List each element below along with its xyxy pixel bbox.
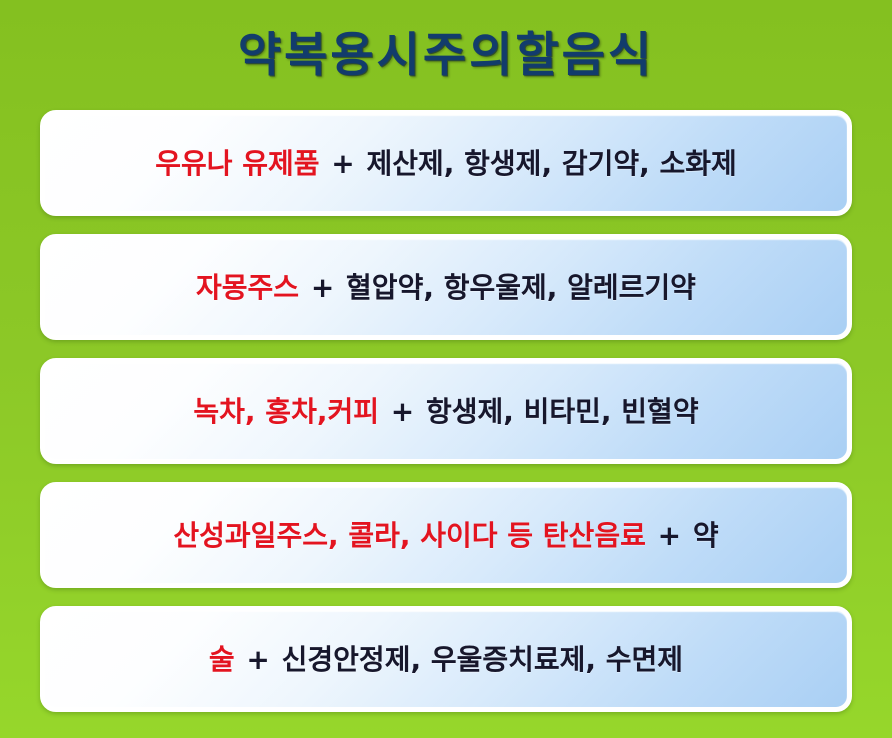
food-card: 자몽주스 + 혈압약, 항우울제, 알레르기약 — [40, 234, 852, 340]
food-card-text: 산성과일주스, 콜라, 사이다 등 탄산음료 + 약 — [159, 518, 732, 553]
food-card-text: 자몽주스 + 혈압약, 항우울제, 알레르기약 — [182, 270, 710, 305]
title-bar: 약복용시주의할음식 — [0, 0, 892, 110]
plus-separator: + — [235, 643, 282, 676]
drug-label: 항생제, 비타민, 빈혈약 — [426, 395, 699, 428]
drug-label: 신경안정제, 우울증치료제, 수면제 — [282, 643, 683, 676]
food-label: 녹차, 홍차,커피 — [193, 395, 379, 428]
drug-label: 약 — [693, 519, 719, 552]
food-card: 술 + 신경안정제, 우울증치료제, 수면제 — [40, 606, 852, 712]
plus-separator: + — [299, 271, 346, 304]
drug-label: 제산제, 항생제, 감기약, 소화제 — [367, 147, 737, 180]
food-card: 산성과일주스, 콜라, 사이다 등 탄산음료 + 약 — [40, 482, 852, 588]
food-card-text: 녹차, 홍차,커피 + 항생제, 비타민, 빈혈약 — [179, 394, 712, 429]
food-card-stack: 우유나 유제품 + 제산제, 항생제, 감기약, 소화제 자몽주스 + 혈압약,… — [40, 110, 852, 738]
food-label: 자몽주스 — [196, 271, 299, 304]
page-title: 약복용시주의할음식 — [238, 32, 654, 79]
food-label: 우유나 유제품 — [155, 147, 319, 180]
plus-separator: + — [320, 147, 367, 180]
drug-label: 혈압약, 항우울제, 알레르기약 — [346, 271, 696, 304]
plus-separator: + — [379, 395, 426, 428]
food-label: 산성과일주스, 콜라, 사이다 등 탄산음료 — [173, 519, 645, 552]
food-card-text: 술 + 신경안정제, 우울증치료제, 수면제 — [195, 642, 697, 677]
food-label: 술 — [209, 643, 235, 676]
food-card: 우유나 유제품 + 제산제, 항생제, 감기약, 소화제 — [40, 110, 852, 216]
poster-root: 약복용시주의할음식 우유나 유제품 + 제산제, 항생제, 감기약, 소화제 자… — [0, 0, 892, 738]
plus-separator: + — [646, 519, 693, 552]
food-card: 녹차, 홍차,커피 + 항생제, 비타민, 빈혈약 — [40, 358, 852, 464]
food-card-text: 우유나 유제품 + 제산제, 항생제, 감기약, 소화제 — [141, 146, 751, 181]
